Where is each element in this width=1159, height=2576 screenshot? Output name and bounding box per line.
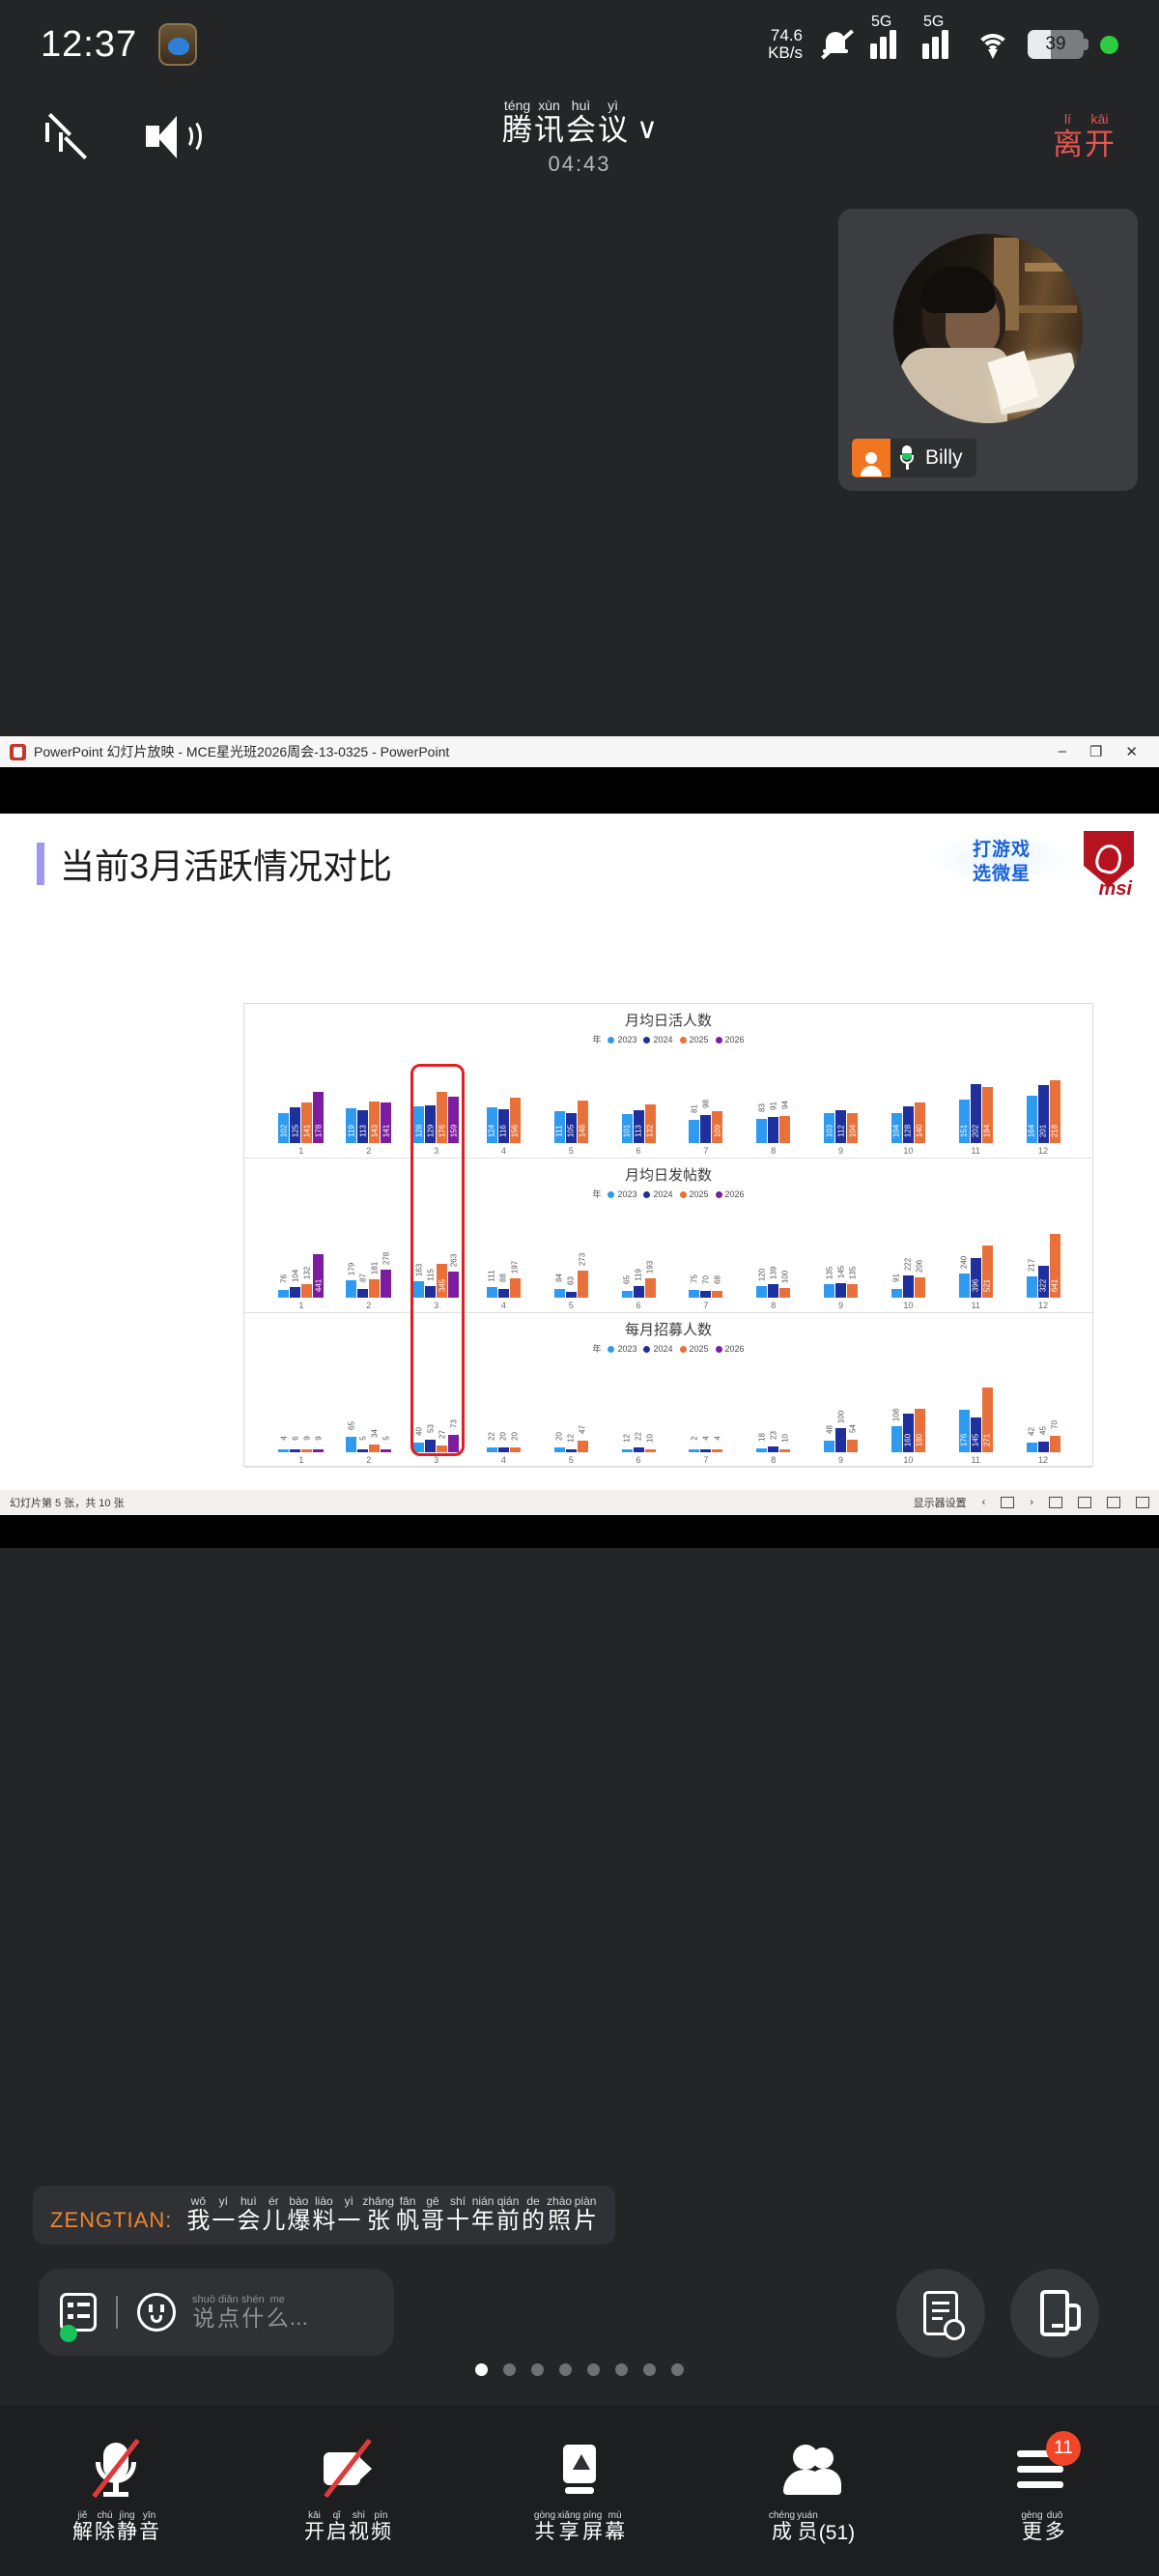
- bar-value-label: 88: [499, 1274, 508, 1282]
- bar-value-label: 120: [757, 1268, 766, 1280]
- chart-group: 761041324411: [268, 1203, 335, 1312]
- chart-bar: 45: [1038, 1442, 1049, 1452]
- legend-label: 2023: [617, 1344, 636, 1354]
- bar-value-label: 9: [302, 1436, 311, 1440]
- chart-group: 17614527111: [942, 1358, 1009, 1467]
- network-speed: 74.6 KB/s: [768, 27, 803, 62]
- title-char-3: yì议: [598, 99, 628, 148]
- x-axis-label: 8: [771, 1454, 776, 1467]
- chat-char-12: qián前: [496, 2195, 520, 2235]
- host-person-icon: [852, 439, 890, 477]
- meeting-title-block: téng腾 xùn讯 huì会 yì议 ∨ 04:43: [0, 98, 1159, 177]
- bar-value-label: 151: [960, 1125, 969, 1137]
- toolbar-4-char-0: gèng更: [1021, 2510, 1042, 2544]
- prev-slide-button[interactable]: ‹: [982, 1497, 986, 1508]
- toolbar-item-share-screen[interactable]: gòng共xiǎng享píng屏mù幕: [464, 2437, 695, 2544]
- toolbar-2-char-2: píng屏: [582, 2510, 603, 2544]
- chart-bar: 101: [622, 1114, 633, 1143]
- share-screen-icon: [548, 2437, 611, 2501]
- chart-bar: 148: [578, 1101, 588, 1143]
- x-axis-label: 7: [703, 1454, 708, 1467]
- bar-value-label: 75: [690, 1274, 698, 1283]
- chart-bar: 63: [566, 1292, 577, 1298]
- toolbar-0-char-2: jìng静: [117, 2510, 137, 2544]
- chart-group: 1631153452633: [403, 1203, 470, 1312]
- chart-bar: 105: [566, 1113, 577, 1144]
- chart-bar: 194: [982, 1087, 993, 1143]
- mic-muted-icon: [84, 2437, 148, 2501]
- chart-group: 7570687: [672, 1203, 740, 1312]
- bar-value-label: 194: [983, 1125, 992, 1137]
- bar-value-label: 322: [1039, 1279, 1048, 1292]
- chart-bar: 4: [712, 1449, 722, 1452]
- x-axis-label: 8: [771, 1300, 776, 1312]
- chart-group: 9122220610: [874, 1203, 942, 1312]
- page-dot[interactable]: [531, 2363, 544, 2376]
- bar-value-label: 23: [769, 1431, 777, 1440]
- chart-bar: 4: [278, 1449, 289, 1452]
- bar-value-label: 63: [567, 1276, 576, 1285]
- chart-title: 月均日活人数: [244, 1004, 1092, 1030]
- x-axis-label: 7: [703, 1300, 708, 1312]
- chart-group: 1241161564: [469, 1048, 537, 1158]
- page-dot[interactable]: [475, 2363, 488, 2376]
- chart-2: 每月招募人数年202320242025202646991655345240532…: [244, 1313, 1092, 1468]
- chart-group: 2447: [672, 1358, 740, 1467]
- legend-dot: [643, 1346, 650, 1353]
- chat-char-3: ér儿: [262, 2195, 285, 2235]
- title-char-2: huì会: [566, 99, 596, 148]
- chart-bar: 111: [554, 1111, 565, 1143]
- x-axis-label: 5: [569, 1300, 574, 1312]
- chart-legend: 年2023202420252026: [244, 1033, 1092, 1045]
- bar-value-label: 65: [623, 1275, 632, 1284]
- bar-value-label: 48: [825, 1425, 834, 1434]
- chart-bar: 240: [959, 1274, 970, 1298]
- chart-bar: 124: [487, 1107, 497, 1143]
- slide-canvas: 当前3月活跃情况对比 打游戏 选微星 msi 月均日活人数年2023202420…: [0, 814, 1159, 1490]
- chart-bar: 217: [1027, 1276, 1037, 1298]
- page-dot[interactable]: [643, 2363, 656, 2376]
- chat-char-8: fān帆: [396, 2195, 419, 2235]
- chart-bar: 163: [413, 1281, 424, 1298]
- chevron-down-icon[interactable]: ∨: [636, 112, 658, 146]
- bar-value-label: 179: [347, 1262, 355, 1274]
- bar-value-label: 103: [825, 1125, 834, 1137]
- chart-plot: 1021251411781119113143141212812917615931…: [268, 1048, 1077, 1158]
- chart-bar: 73: [448, 1435, 459, 1452]
- toolbar-item-unmute[interactable]: jiě解chú除jìng静yīn音: [0, 2437, 232, 2544]
- legend-label: 2025: [690, 1035, 709, 1045]
- msi-slogan: 打游戏 选微星: [929, 831, 1074, 887]
- slide-title-block: 当前3月活跃情况对比: [37, 839, 392, 889]
- bar-value-label: 396: [972, 1279, 980, 1292]
- powerpoint-window: PowerPoint 幻灯片放映 - MCE星光班2026周会-13-0325 …: [0, 736, 1159, 1548]
- network-speed-unit: KB/s: [768, 44, 803, 62]
- toolbar-1-char-1: qǐ启: [326, 2510, 347, 2544]
- signal-sim1-icon: 5G: [870, 30, 906, 59]
- minimize-button[interactable]: –: [1059, 743, 1066, 760]
- avatar: [893, 234, 1083, 423]
- bar-value-label: 641: [1051, 1279, 1060, 1292]
- bar-value-label: 271: [983, 1434, 992, 1446]
- toolbar-label-more: gèng更duō多: [1020, 2510, 1065, 2544]
- chart-bar: 42: [1027, 1443, 1037, 1452]
- chart-bar: 521: [982, 1245, 993, 1298]
- bar-value-label: 160: [904, 1434, 913, 1446]
- chart-bar: 206: [915, 1277, 925, 1298]
- chart-bar: 65: [622, 1291, 633, 1298]
- legend-label: 2024: [653, 1035, 672, 1045]
- document-share-button[interactable]: [896, 2269, 985, 2358]
- chart-bar: 120: [756, 1286, 767, 1298]
- x-axis-label: 10: [903, 1300, 913, 1312]
- x-axis-label: 9: [838, 1145, 843, 1158]
- title-accent-bar: [37, 843, 44, 885]
- restore-button[interactable]: ❐: [1089, 743, 1102, 760]
- msi-branding: 打游戏 选微星 msi: [929, 831, 1134, 887]
- battery-icon: 39: [1028, 30, 1084, 59]
- page-dot[interactable]: [671, 2363, 684, 2376]
- chart-bar: 104: [290, 1287, 300, 1298]
- page-dot[interactable]: [615, 2363, 628, 2376]
- chart-bar: 20: [498, 1447, 509, 1452]
- status-icons: 74.6 KB/s 5G 5G 39: [768, 27, 1118, 62]
- bar-value-label: 87: [358, 1274, 367, 1282]
- legend-dot: [608, 1346, 614, 1353]
- toolbar-4-char-1: duō多: [1045, 2510, 1065, 2544]
- bar-value-label: 128: [904, 1125, 913, 1137]
- chart-bar: 129: [425, 1105, 436, 1143]
- chart-bar: 113: [634, 1110, 644, 1143]
- chat-sender: ZENGTIAN:: [50, 2208, 172, 2233]
- chart-group: 1281291761593: [403, 1048, 470, 1158]
- chart-bar: 201: [1038, 1085, 1049, 1143]
- status-badge: 11: [1046, 2431, 1081, 2466]
- bar-value-label: 176: [960, 1434, 969, 1446]
- chart-bar: 140: [915, 1102, 925, 1143]
- chart-bar: 178: [313, 1092, 324, 1143]
- chart-bar: 145: [971, 1417, 981, 1452]
- letterbox-bottom: [0, 1515, 1159, 1548]
- bar-value-label: 263: [449, 1254, 458, 1267]
- bar-value-label: 135: [848, 1267, 857, 1279]
- toolbar-2-char-3: mù幕: [605, 2510, 625, 2544]
- chart-bar: 164: [1027, 1096, 1037, 1143]
- x-axis-label: 11: [972, 1145, 980, 1158]
- chart-bar: 128: [903, 1106, 914, 1143]
- chat-char-7: zhāng张: [362, 2195, 394, 2235]
- x-axis-label: 2: [366, 1145, 371, 1158]
- chat-toast[interactable]: ZENGTIAN: wǒ我yí一huì会ér儿bào爆liào料yì一zhāng…: [33, 2186, 615, 2245]
- chart-bar: 156: [510, 1098, 521, 1143]
- bar-value-label: 2: [690, 1436, 698, 1440]
- chart-bar: 104: [891, 1113, 902, 1143]
- legend-dot: [643, 1037, 650, 1044]
- bar-value-label: 101: [623, 1125, 632, 1137]
- chat-char-9: gē哥: [421, 2195, 444, 2235]
- chart-group: 1823108: [740, 1358, 807, 1467]
- pen-tools-icon[interactable]: [1001, 1497, 1014, 1508]
- bar-value-label: 141: [382, 1125, 390, 1137]
- chart-bar: 278: [381, 1270, 391, 1298]
- chart-bar: 65: [346, 1437, 356, 1452]
- chart-group: 651191936: [605, 1203, 672, 1312]
- chat-char-13: de的: [522, 2195, 545, 2235]
- chart-group: 10816018010: [874, 1358, 942, 1467]
- legend-label: 2023: [617, 1189, 636, 1199]
- bar-value-label: 54: [848, 1424, 857, 1433]
- toolbar-item-members[interactable]: chéng成yuán员(51): [695, 2437, 927, 2544]
- page-dot[interactable]: [503, 2363, 516, 2376]
- chart-bar: 94: [779, 1116, 790, 1143]
- chart-group: 179871812782: [335, 1203, 403, 1312]
- search-input[interactable]: shuō说diǎn点shén什me么...: [191, 2294, 308, 2332]
- cast-phone-button[interactable]: [1010, 2269, 1099, 2358]
- bar-value-label: 20: [555, 1432, 564, 1441]
- chart-bar: 48: [824, 1441, 834, 1452]
- chart-bar: 135: [847, 1284, 858, 1298]
- chart-bar: 159: [448, 1097, 459, 1143]
- meeting-header: téng腾 xùn讯 huì会 yì议 ∨ 04:43 lí离 kāi开: [0, 89, 1159, 186]
- legend-label: 2024: [653, 1344, 672, 1354]
- chart-bar: 54: [847, 1440, 858, 1452]
- x-axis-label: 2: [366, 1454, 371, 1467]
- chart-group: 1031121049: [807, 1048, 875, 1158]
- chart-group: 111881974: [469, 1203, 537, 1312]
- bar-value-label: 108: [892, 1409, 901, 1421]
- zoom-slide-icon[interactable]: [1107, 1497, 1120, 1508]
- bar-value-label: 119: [635, 1269, 643, 1281]
- x-axis-label: 10: [903, 1145, 913, 1158]
- legend-dot: [716, 1191, 722, 1198]
- powerpoint-statusbar: 幻灯片第 5 张，共 10 张 显示器设置 ‹ ›: [0, 1490, 1159, 1515]
- chat-char-6: yì一: [337, 2195, 360, 2235]
- bar-value-label: 109: [713, 1125, 721, 1137]
- x-axis-label: 4: [501, 1300, 506, 1312]
- bar-value-label: 181: [370, 1262, 379, 1274]
- chart-bar: 53: [425, 1440, 436, 1452]
- placeholder-char-3: me么: [267, 2294, 289, 2332]
- chart-bar: 12: [566, 1449, 577, 1452]
- bar-value-label: 140: [916, 1125, 924, 1137]
- bar-value-label: 12: [567, 1434, 576, 1443]
- bar-value-label: 129: [426, 1125, 435, 1137]
- toolbar-label-share-screen: gòng共xiǎng享píng屏mù幕: [533, 2510, 626, 2544]
- toolbar-label-start-video: kāi开qǐ启shì视pín频: [303, 2510, 392, 2544]
- chart-bar: 151: [959, 1100, 970, 1143]
- x-axis-label: 5: [569, 1454, 574, 1467]
- placeholder-char-0: shuō说: [192, 2294, 215, 2332]
- chart-bar: 9: [313, 1449, 324, 1452]
- emoji-icon[interactable]: [137, 2293, 176, 2332]
- document-share-icon: [923, 2291, 958, 2335]
- x-axis-label: 1: [298, 1454, 303, 1467]
- legend-label: 2025: [690, 1189, 709, 1199]
- toolbar-0-char-3: yīn音: [139, 2510, 159, 2544]
- chart-bar: 441: [313, 1254, 324, 1298]
- bar-value-label: 47: [579, 1425, 587, 1434]
- chart-bar: 641: [1050, 1234, 1060, 1298]
- chart-bar: 135: [824, 1284, 834, 1298]
- x-axis-label: 4: [501, 1454, 506, 1467]
- bar-value-label: 34: [370, 1429, 379, 1438]
- msi-wordmark: msi: [1099, 878, 1132, 901]
- bar-value-label: 119: [347, 1125, 355, 1137]
- chart-group: 2012475: [537, 1358, 605, 1467]
- bar-value-label: 278: [382, 1252, 390, 1265]
- battery-level: 39: [1045, 34, 1065, 55]
- chat-char-10: shí十: [446, 2195, 469, 2235]
- x-axis-label: 7: [703, 1145, 708, 1158]
- bar-value-label: 178: [314, 1125, 323, 1137]
- chart-group: 16420121812: [1009, 1048, 1077, 1158]
- toolbar-label-unmute: jiě解chú除jìng静yīn音: [71, 2510, 160, 2544]
- meeting-app-icon: [158, 23, 197, 66]
- chart-bar: 143: [369, 1102, 380, 1143]
- bar-value-label: 145: [972, 1434, 980, 1446]
- meeting-title[interactable]: téng腾 xùn讯 huì会 yì议 ∨: [501, 99, 658, 148]
- chart-0: 月均日活人数年202320242025202610212514117811191…: [244, 1004, 1092, 1159]
- bar-value-label: 132: [302, 1267, 311, 1279]
- bar-value-label: 206: [916, 1260, 924, 1273]
- chart-group: 1191131431412: [335, 1048, 403, 1158]
- legend-dot: [608, 1191, 614, 1198]
- toolbar-2-char-0: gòng共: [534, 2510, 555, 2544]
- bar-value-label: 135: [825, 1267, 834, 1279]
- chart-bar: 132: [645, 1104, 656, 1143]
- bar-value-label: 441: [314, 1279, 323, 1292]
- video-stage: Billy: [0, 186, 1159, 640]
- bar-value-label: 240: [960, 1256, 969, 1269]
- slide-grid-icon[interactable]: [1078, 1497, 1091, 1508]
- chart-group: 1351451359: [807, 1203, 875, 1312]
- chart-bar: 111: [487, 1287, 497, 1298]
- title-char-1: xùn讯: [534, 99, 564, 148]
- bar-value-label: 12: [623, 1434, 632, 1443]
- bar-value-label: 22: [488, 1432, 496, 1441]
- chart-group: 84632735: [537, 1203, 605, 1312]
- bar-value-label: 22: [635, 1432, 643, 1441]
- toolbar-item-start-video[interactable]: kāi开qǐ启shì视pín频: [232, 2437, 464, 2544]
- toolbar-item-more[interactable]: 11 gèng更duō多: [927, 2437, 1159, 2544]
- x-axis-label: 12: [1038, 1300, 1048, 1312]
- bar-value-label: 164: [1028, 1125, 1036, 1137]
- bar-value-label: 148: [579, 1125, 587, 1137]
- bar-value-label: 176: [438, 1125, 446, 1137]
- x-axis-label: 1: [298, 1145, 303, 1158]
- chart-bar: 128: [413, 1106, 424, 1143]
- signal-sim2-icon: 5G: [922, 30, 958, 59]
- x-axis-label: 11: [972, 1300, 980, 1312]
- close-button[interactable]: ✕: [1125, 743, 1138, 760]
- bar-value-label: 81: [690, 1104, 698, 1113]
- bar-value-label: 45: [1039, 1426, 1048, 1435]
- chart-bar: 180: [915, 1409, 925, 1452]
- chart-bar: 222: [903, 1275, 914, 1298]
- chart-bar: 20: [510, 1447, 521, 1452]
- bar-value-label: 113: [635, 1125, 643, 1137]
- end-show-icon[interactable]: [1136, 1497, 1149, 1508]
- bar-value-label: 345: [438, 1279, 446, 1292]
- chart-bar: 396: [971, 1258, 981, 1298]
- bar-value-label: 100: [780, 1271, 789, 1283]
- bar-value-label: 4: [279, 1436, 288, 1440]
- bottom-toolbar: jiě解chú除jìng静yīn音 kāi开qǐ启shì视pín频 gòng共x…: [0, 2406, 1159, 2576]
- page-dot[interactable]: [559, 2363, 572, 2376]
- bar-value-label: 273: [579, 1253, 587, 1266]
- toolbar-1-char-3: pín频: [371, 2510, 391, 2544]
- chat-char-4: bào爆: [287, 2195, 310, 2235]
- chart-bar: 103: [824, 1113, 834, 1143]
- legend-dot: [680, 1037, 687, 1044]
- bar-value-label: 102: [279, 1125, 288, 1137]
- legend-label: 2026: [725, 1189, 745, 1199]
- chart-bar: 141: [301, 1102, 312, 1143]
- chart-bar: 115: [425, 1286, 436, 1298]
- chart-bar: 141: [381, 1102, 391, 1143]
- chat-char-11: nián年: [471, 2195, 495, 2235]
- bar-value-label: 113: [358, 1125, 367, 1137]
- chart-bar: 5: [357, 1449, 368, 1452]
- bar-value-label: 91: [769, 1102, 777, 1110]
- chart-bar: 91: [891, 1289, 902, 1298]
- bar-value-label: 111: [488, 1270, 496, 1281]
- bar-value-label: 180: [916, 1434, 924, 1446]
- bar-value-label: 156: [511, 1125, 520, 1137]
- chart-bar: 119: [346, 1108, 356, 1143]
- page-indicator-dots[interactable]: [0, 2363, 1159, 2376]
- chat-char-14: zhào照: [547, 2195, 572, 2235]
- bell-muted-icon: [819, 27, 854, 62]
- presenter-view-icon[interactable]: [1049, 1497, 1062, 1508]
- chart-bar: 23: [768, 1446, 778, 1452]
- members-icon: [779, 2437, 843, 2501]
- x-axis-label: 8: [771, 1145, 776, 1158]
- legend-label: 2025: [690, 1344, 709, 1354]
- chart-bar: 102: [278, 1113, 289, 1143]
- chart-bar: 98: [700, 1115, 711, 1143]
- placeholder-char-2: shén什: [241, 2294, 265, 2332]
- toolbar-label-members: chéng成yuán员(51): [768, 2510, 855, 2544]
- bar-value-label: 128: [414, 1125, 423, 1137]
- chart-bar: 345: [437, 1264, 447, 1298]
- bar-value-label: 20: [499, 1432, 508, 1441]
- powerpoint-titlebar: PowerPoint 幻灯片放映 - MCE星光班2026周会-13-0325 …: [0, 736, 1159, 767]
- sim2-network-label: 5G: [923, 14, 944, 31]
- chart-plot: 7610413244111798718127821631153452633111…: [268, 1203, 1077, 1312]
- letterbox-top: [0, 767, 1159, 814]
- chart-bar: 22: [634, 1447, 644, 1452]
- x-axis-label: 11: [972, 1454, 980, 1467]
- chart-bar: 263: [448, 1272, 459, 1298]
- bar-value-label: 112: [836, 1125, 845, 1137]
- bar-value-label: 68: [713, 1275, 721, 1284]
- chart-group: 10412814010: [874, 1048, 942, 1158]
- page-dot[interactable]: [587, 2363, 600, 2376]
- bar-value-label: 98: [701, 1100, 710, 1108]
- chart-bar: 181: [369, 1279, 380, 1298]
- display-settings-button[interactable]: 显示器设置: [914, 1495, 967, 1510]
- legend-dot: [680, 1191, 687, 1198]
- bar-value-label: 27: [438, 1430, 446, 1439]
- next-slide-button[interactable]: ›: [1030, 1497, 1033, 1508]
- chat-input-bar[interactable]: shuō说diǎn点shén什me么...: [39, 2269, 394, 2356]
- participant-video-card[interactable]: Billy: [838, 209, 1138, 491]
- bar-value-label: 70: [701, 1275, 710, 1284]
- legend-label: 2026: [725, 1035, 745, 1045]
- bar-value-label: 20: [511, 1432, 520, 1441]
